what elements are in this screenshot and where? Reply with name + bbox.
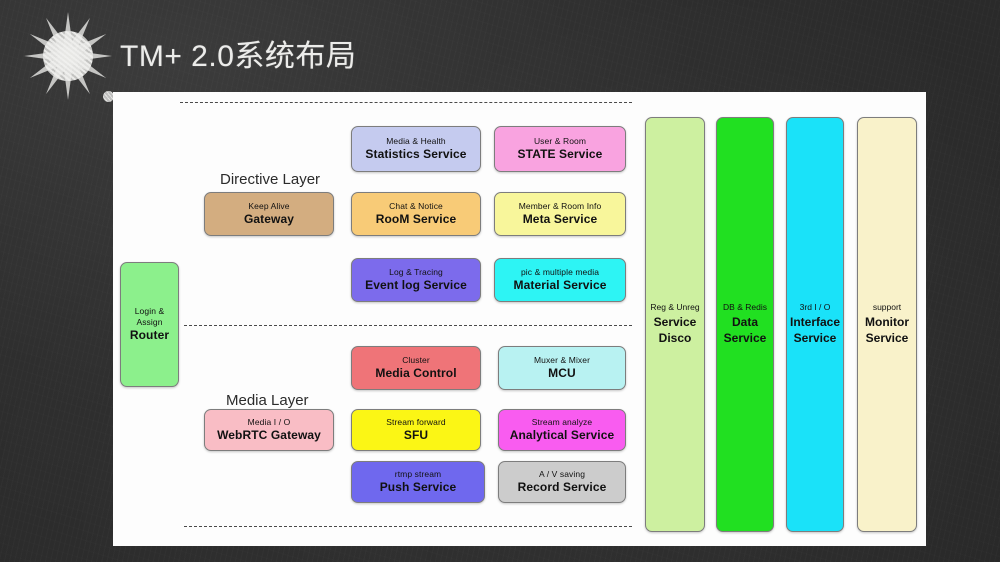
service-box-title: Event log Service [365,278,467,292]
service-box-subtitle: Keep Alive [248,201,289,211]
service-column-interface-service[interactable]: 3rd I / O Interface Service [786,117,844,532]
service-box-sfu[interactable]: Stream forward SFU [351,409,481,451]
architecture-board: Directive Layer Media Layer Login & Assi… [113,92,926,546]
service-box-title: Gateway [244,212,294,226]
service-column-title: Service [654,315,697,331]
middle-divider [184,325,632,326]
service-box-title: Push Service [380,480,457,494]
service-box-analytical-service[interactable]: Stream analyze Analytical Service [498,409,626,451]
service-box-title: Record Service [518,480,607,494]
service-box-title: Analytical Service [510,428,615,442]
service-box-subtitle-2: Assign [136,317,162,327]
service-box-media-control[interactable]: Cluster Media Control [351,346,481,390]
service-box-material-service[interactable]: pic & multiple media Material Service [494,258,626,302]
service-column-data-service[interactable]: DB & Redis Data Service [716,117,774,532]
service-box-title: WebRTC Gateway [217,428,321,442]
service-box-subtitle: rtmp stream [395,469,441,479]
service-column-subtitle: support [873,302,901,313]
service-column-title: Monitor [865,315,909,331]
service-box-title: Material Service [514,278,607,292]
layer-label-directive: Directive Layer [220,171,320,188]
service-box-event-log-service[interactable]: Log & Tracing Event log Service [351,258,481,302]
service-column-title-2: Service [866,331,909,347]
service-box-push-service[interactable]: rtmp stream Push Service [351,461,485,503]
top-divider [180,102,632,103]
service-box-title: Media Control [375,366,456,380]
service-box-subtitle: Login & [135,306,165,316]
service-box-subtitle: Chat & Notice [389,201,443,211]
service-column-title-2: Service [724,331,767,347]
service-box-title: Router [130,328,169,342]
service-box-title: SFU [404,428,428,442]
service-column-subtitle: Reg & Unreg [650,302,699,313]
service-column-title: Interface [790,315,840,331]
chalk-starburst-icon [20,8,116,104]
service-column-service-disco[interactable]: Reg & Unreg Service Disco [645,117,705,532]
service-box-subtitle: Stream analyze [532,417,592,427]
service-box-title: STATE Service [518,147,603,161]
service-column-title-2: Service [794,331,837,347]
service-column-subtitle: DB & Redis [723,302,767,313]
service-column-monitor-service[interactable]: support Monitor Service [857,117,917,532]
service-box-subtitle: Media I / O [248,417,291,427]
service-box-subtitle: Media & Health [386,136,446,146]
service-box-state-service[interactable]: User & Room STATE Service [494,126,626,172]
service-box-title: Statistics Service [365,147,466,161]
service-box-subtitle: Member & Room Info [519,201,602,211]
service-column-title: Data [732,315,758,331]
service-box-subtitle: Muxer & Mixer [534,355,590,365]
layer-label-media: Media Layer [226,392,309,409]
service-box-gateway[interactable]: Keep Alive Gateway [204,192,334,236]
service-box-subtitle: Log & Tracing [389,267,443,277]
service-box-meta-service[interactable]: Member & Room Info Meta Service [494,192,626,236]
service-box-statistics-service[interactable]: Media & Health Statistics Service [351,126,481,172]
service-box-subtitle: Stream forward [386,417,446,427]
service-box-title: MCU [548,366,576,380]
service-column-subtitle: 3rd I / O [800,302,831,313]
service-box-mcu[interactable]: Muxer & Mixer MCU [498,346,626,390]
service-box-webrtc-gateway[interactable]: Media I / O WebRTC Gateway [204,409,334,451]
service-box-router[interactable]: Login & Assign Router [120,262,179,387]
service-box-record-service[interactable]: A / V saving Record Service [498,461,626,503]
service-column-title-2: Disco [659,331,692,347]
bottom-divider [184,526,632,527]
service-box-room-service[interactable]: Chat & Notice RooM Service [351,192,481,236]
page-title: TM+ 2.0系统布局 [120,31,356,75]
service-box-subtitle: A / V saving [539,469,585,479]
service-box-subtitle: Cluster [402,355,430,365]
service-box-subtitle: User & Room [534,136,586,146]
service-box-title: RooM Service [376,212,457,226]
slide-canvas: TM+ 2.0系统布局 Directive Layer Media Layer … [0,0,1000,562]
service-box-subtitle: pic & multiple media [521,267,599,277]
service-box-title: Meta Service [523,212,598,226]
